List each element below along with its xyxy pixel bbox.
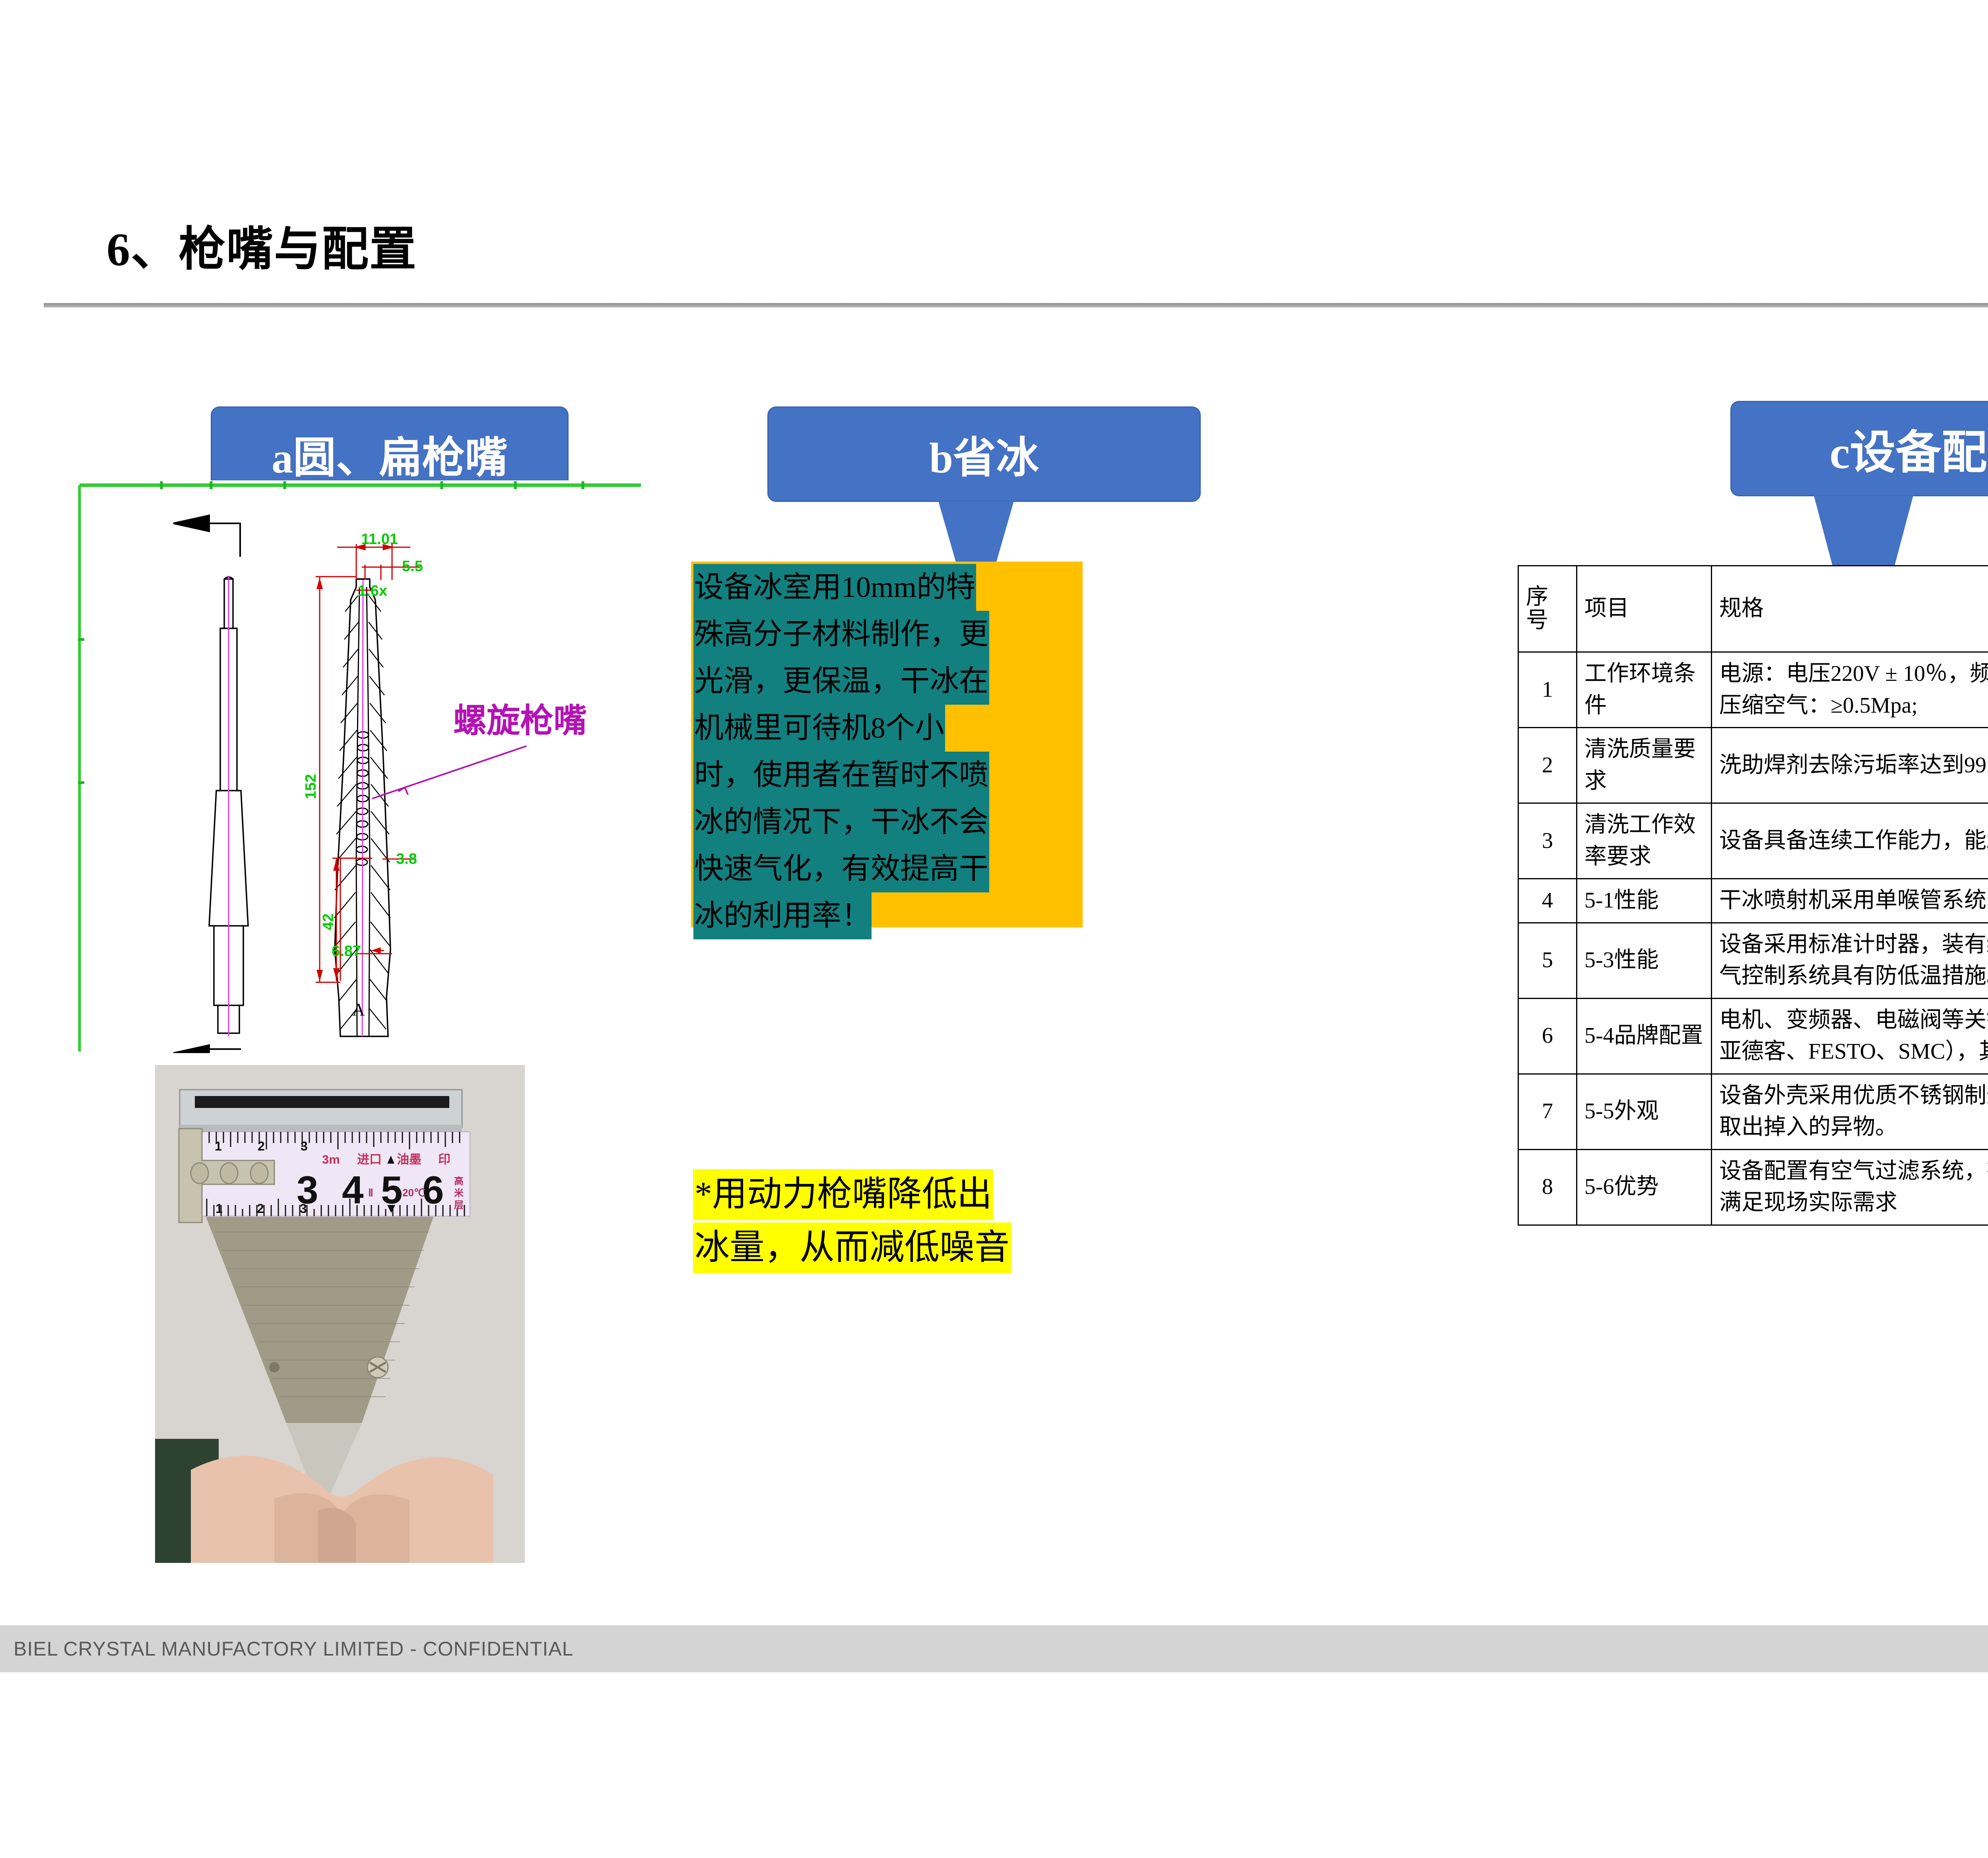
callout-b[interactable]: b省冰 — [767, 406, 1201, 502]
row-spec: 干冰喷射机采用单喉管系统，带气体调压功能，干冰流量均匀、可调控。 — [1712, 879, 1988, 923]
teal-note-line: 设备冰室用10mm的特 — [693, 564, 976, 611]
row-no: 3 — [1518, 803, 1577, 879]
title-divider — [44, 303, 1988, 307]
teal-note-line: 时，使用者在暂时不喷 — [693, 752, 989, 799]
callout-b-label: b省冰 — [767, 406, 1201, 502]
row-item: 5-6优势 — [1577, 1149, 1712, 1225]
page-title: 6、枪嘴与配置 — [107, 211, 417, 279]
svg-text:3.8: 3.8 — [396, 851, 417, 867]
yellow-note-box: *用动力枪嘴降低出 冰量，从而减低噪音 — [693, 1169, 1170, 1276]
table-row: 6 5-4品牌配置 电机、变频器、电磁阀等关键电器元件采用国外名牌产品（如三菱、… — [1518, 998, 1988, 1074]
svg-text:20℃: 20℃ — [402, 1187, 425, 1199]
svg-text:油墨: 油墨 — [397, 1153, 421, 1166]
table-row: 1 工作环境条件 电源：电压220V ± 10％，频率50Hz ± 5%；环境温… — [1518, 652, 1988, 728]
table-row: 2 清洗质量要求 洗助焊剂去除污垢率达到99.5% — [1518, 728, 1988, 803]
table-row: 8 5-6优势 设备配置有空气过滤系统，有效清除压缩空气中的水份，避免杂质进入干… — [1518, 1149, 1988, 1225]
svg-text:4: 4 — [342, 1168, 364, 1212]
row-item: 清洗质量要求 — [1577, 728, 1712, 803]
svg-text:1: 1 — [215, 1201, 223, 1216]
svg-text:3m: 3m — [322, 1153, 340, 1166]
teal-note-line: 光滑，更保温，干冰在 — [693, 658, 989, 705]
teal-note-box: 设备冰室用10mm的特 殊高分子材料制作，更 光滑，更保温，干冰在 机械里可待机… — [691, 562, 1083, 927]
footer-confidentiality-text: BIEL CRYSTAL MANUFACTORY LIMITED - CONFI… — [14, 1637, 573, 1660]
row-no: 1 — [1518, 652, 1577, 728]
row-item: 工作环境条件 — [1577, 652, 1712, 728]
row-spec: 设备外壳采用优质不锈钢制造，精致美观；防噪门设计为活动式，方便拆装，可以及时取出… — [1712, 1074, 1988, 1149]
svg-text:3: 3 — [300, 1201, 307, 1216]
yellow-note-line: *用动力枪嘴降低出 — [693, 1169, 994, 1220]
svg-text:米: 米 — [454, 1188, 464, 1199]
row-spec: 设备采用标准计时器，装有红色的急停按钮；电气旋钮和开关动作灵活无阻滞现象；电气控… — [1712, 923, 1988, 998]
row-item: 5-4品牌配置 — [1577, 998, 1712, 1074]
callout-c-label: c设备配置 — [1730, 401, 1988, 496]
cad-drawing-panel: 11.01 5.5 1.6x 152 3.8 42 6.87 A — [78, 480, 643, 1053]
svg-text:层: 层 — [454, 1200, 464, 1211]
row-no: 5 — [1518, 923, 1577, 998]
svg-text:2: 2 — [257, 1201, 264, 1216]
table-row: 7 5-5外观 设备外壳采用优质不锈钢制造，精致美观；防噪门设计为活动式，方便拆… — [1518, 1074, 1988, 1149]
svg-text:6.87: 6.87 — [332, 943, 361, 960]
row-no: 6 — [1518, 998, 1577, 1074]
row-spec: 电机、变频器、电磁阀等关键电器元件采用国外名牌产品（如三菱、西门子、施耐德、亚德… — [1712, 998, 1988, 1074]
equipment-spec-table: 序号 项目 规格 1 工作环境条件 电源：电压220V ± 10％，频率50Hz… — [1518, 565, 1988, 1226]
teal-note-line: 机械里可待机8个小 — [693, 705, 945, 752]
teal-note-line: 冰的利用率！ — [693, 892, 872, 939]
teal-note-line: 冰的情况下，干冰不会 — [693, 799, 989, 845]
header-spec: 规格 — [1712, 566, 1988, 652]
svg-text:进口: 进口 — [357, 1153, 382, 1166]
slide-canvas: 6、枪嘴与配置 BIEL a圆、扁枪嘴 b省冰 c设备配置 — [0, 0, 1988, 1858]
table-row: 4 5-1性能 干冰喷射机采用单喉管系统，带气体调压功能，干冰流量均匀、可调控。 — [1518, 879, 1988, 923]
header-item: 项目 — [1577, 566, 1712, 652]
row-item: 清洗工作效率要求 — [1577, 803, 1712, 879]
teal-note-line: 殊高分子材料制作，更 — [693, 611, 989, 658]
svg-text:1: 1 — [215, 1139, 222, 1153]
slide-footer: BIEL CRYSTAL MANUFACTORY LIMITED - CONFI… — [0, 1625, 1988, 1672]
row-no: 7 — [1518, 1074, 1577, 1149]
spec-table-body: 1 工作环境条件 电源：电压220V ± 10％，频率50Hz ± 5%；环境温… — [1518, 652, 1988, 1225]
svg-text:3: 3 — [301, 1139, 308, 1153]
svg-text:2: 2 — [258, 1139, 265, 1153]
svg-text:152: 152 — [303, 774, 319, 799]
row-no: 4 — [1518, 879, 1577, 923]
nozzle-photo: 123 3m 进口 油墨 印 34 56 Ⅱ20℃ 高米层 — [155, 1065, 525, 1563]
svg-text:11.01: 11.01 — [361, 531, 398, 548]
spec-table-head: 序号 项目 规格 — [1518, 566, 1988, 652]
row-item: 5-3性能 — [1577, 923, 1712, 998]
callout-c[interactable]: c设备配置 — [1730, 401, 1988, 496]
svg-text:1.6x: 1.6x — [358, 583, 387, 599]
svg-text:高: 高 — [454, 1176, 464, 1187]
header-no: 序号 — [1518, 566, 1577, 652]
svg-text:6: 6 — [422, 1168, 444, 1212]
svg-text:42: 42 — [320, 913, 337, 930]
svg-text:印: 印 — [438, 1153, 450, 1166]
row-spec: 设备具备连续工作能力，能24小时连续作业。清理效率不小于100m2/h — [1712, 803, 1988, 879]
table-row: 3 清洗工作效率要求 设备具备连续工作能力，能24小时连续作业。清理效率不小于1… — [1518, 803, 1988, 879]
row-item: 5-1性能 — [1577, 879, 1712, 923]
row-spec: 设备配置有空气过滤系统，有效清除压缩空气中的水份，避免杂质进入干冰清洗系统，满足… — [1712, 1149, 1988, 1225]
teal-note-line: 快速气化，有效提高干 — [693, 845, 989, 892]
svg-text:Ⅱ: Ⅱ — [368, 1187, 373, 1199]
svg-text:5.5: 5.5 — [402, 558, 423, 575]
row-no: 8 — [1518, 1149, 1577, 1225]
row-spec: 电源：电压220V ± 10％，频率50Hz ± 5%；环境温度：-5℃～45℃… — [1712, 652, 1988, 728]
row-no: 2 — [1518, 728, 1577, 803]
yellow-note-line: 冰量，从而减低噪音 — [693, 1222, 1011, 1273]
section-marker-a: A — [352, 999, 365, 1020]
table-row: 5 5-3性能 设备采用标准计时器，装有红色的急停按钮；电气旋钮和开关动作灵活无… — [1518, 923, 1988, 998]
row-item: 5-5外观 — [1577, 1074, 1712, 1149]
spiral-nozzle-annotation: 螺旋枪嘴 — [453, 694, 587, 742]
row-spec: 洗助焊剂去除污垢率达到99.5% — [1712, 728, 1988, 803]
table-header-row: 序号 项目 规格 — [1518, 566, 1988, 652]
